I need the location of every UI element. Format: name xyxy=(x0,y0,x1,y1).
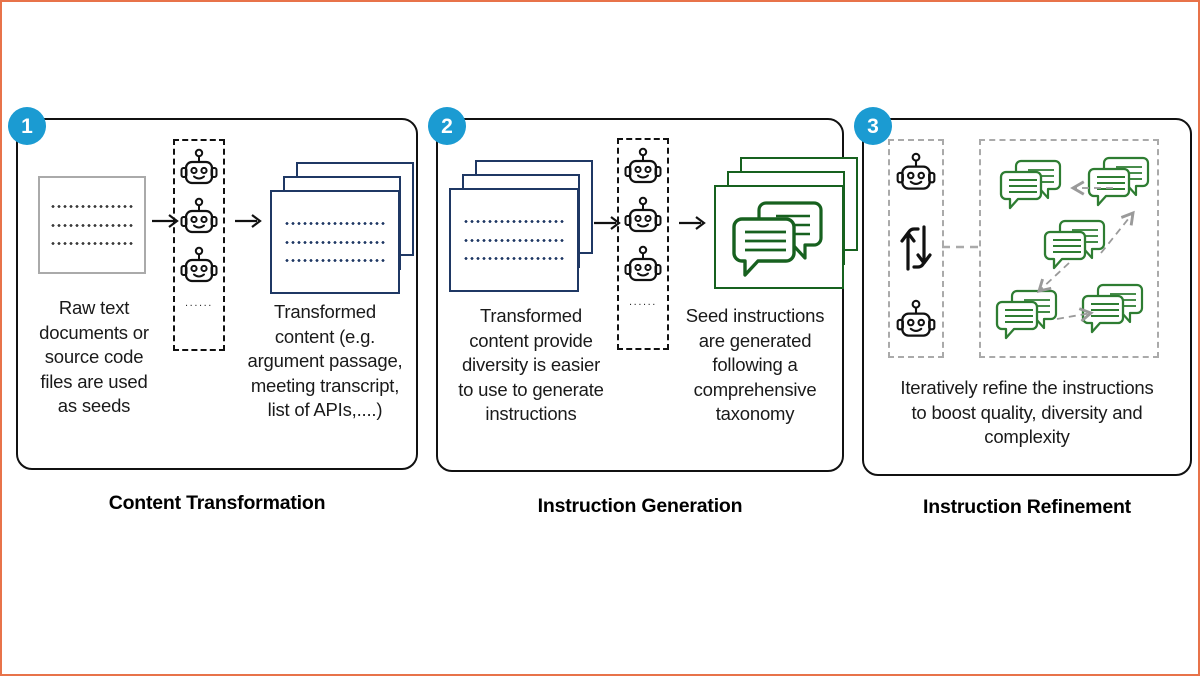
text-line: comprehensive xyxy=(666,378,844,403)
cycle-arrows-icon xyxy=(896,221,936,275)
doc-text-line xyxy=(463,257,565,260)
text-line: content provide xyxy=(440,329,622,354)
doc-text-line xyxy=(463,220,565,223)
text-line: Transformed xyxy=(440,304,622,329)
doc-text-line xyxy=(50,224,134,227)
robot-icon xyxy=(895,153,937,197)
chat-icon xyxy=(997,291,1056,338)
text-line: as seeds xyxy=(20,394,168,419)
text-line: documents or xyxy=(20,321,168,346)
refinement-agent-box xyxy=(888,139,944,358)
panel-3-badge: 3 xyxy=(854,107,892,145)
panel-2-left-text: Transformed content provide diversity is… xyxy=(440,304,622,427)
robot-icon xyxy=(623,246,663,288)
panel-2-right-text: Seed instructions are generated followin… xyxy=(666,304,844,427)
doc-text-line xyxy=(463,239,565,242)
text-line: argument passage, xyxy=(232,349,418,374)
panel-1-caption: Content Transformation xyxy=(16,492,418,515)
text-line: taxonomy xyxy=(666,402,844,427)
text-line: following a xyxy=(666,353,844,378)
figure-canvas: 1 xyxy=(0,0,1200,676)
robot-column-2: ...... xyxy=(617,138,669,350)
panel-2-caption: Instruction Generation xyxy=(436,495,844,518)
robot-column-1: ...... xyxy=(173,139,225,351)
text-line: Seed instructions xyxy=(666,304,844,329)
text-line: Raw text xyxy=(20,296,168,321)
text-line: meeting transcript, xyxy=(232,374,418,399)
instruction-pool-box xyxy=(979,139,1159,358)
panel-3-body-text: Iteratively refine the instructions to b… xyxy=(866,376,1188,450)
text-line: complexity xyxy=(866,425,1188,450)
stack-sheet-front xyxy=(449,188,579,292)
chat-icon xyxy=(1045,221,1104,268)
doc-text-line xyxy=(50,205,134,208)
panel-1-badge: 1 xyxy=(8,107,46,145)
chat-icon xyxy=(1089,158,1148,205)
doc-text-line xyxy=(284,259,386,262)
agent-pool-connector xyxy=(942,244,978,250)
flow-arrow xyxy=(235,213,263,229)
stack-sheet-front xyxy=(714,185,844,289)
text-line: source code xyxy=(20,345,168,370)
seed-instruction-stack-icon xyxy=(714,157,860,293)
raw-document-icon xyxy=(38,176,146,274)
doc-text-line xyxy=(284,222,386,225)
panel-1-right-text: Transformed content (e.g. argument passa… xyxy=(232,300,418,423)
ellipsis-dots: ...... xyxy=(185,298,213,309)
robot-icon xyxy=(895,300,937,344)
refine-arrow xyxy=(1101,213,1133,253)
text-line: diversity is easier xyxy=(440,353,622,378)
text-line: Transformed xyxy=(232,300,418,325)
text-line: are generated xyxy=(666,329,844,354)
text-line: content (e.g. xyxy=(232,325,418,350)
transformed-document-stack-icon xyxy=(270,162,416,298)
robot-icon xyxy=(623,148,663,190)
robot-icon xyxy=(623,197,663,239)
panel-2-badge: 2 xyxy=(428,107,466,145)
text-line: to boost quality, diversity and xyxy=(866,401,1188,426)
panel-3-caption: Instruction Refinement xyxy=(862,496,1192,519)
robot-icon xyxy=(179,198,219,240)
panel-1-left-text: Raw text documents or source code files … xyxy=(20,296,168,419)
text-line: instructions xyxy=(440,402,622,427)
text-line: Iteratively refine the instructions xyxy=(866,376,1188,401)
text-line: list of APIs,....) xyxy=(232,398,418,423)
text-line: files are used xyxy=(20,370,168,395)
doc-text-line xyxy=(284,241,386,244)
text-line: to use to generate xyxy=(440,378,622,403)
chat-icon xyxy=(1083,285,1142,332)
chat-icon xyxy=(1001,161,1060,208)
transformed-document-stack-icon xyxy=(449,160,595,296)
robot-icon xyxy=(179,149,219,191)
stack-sheet-front xyxy=(270,190,400,294)
flow-arrow xyxy=(679,215,707,231)
ellipsis-dots: ...... xyxy=(629,297,657,308)
robot-icon xyxy=(179,247,219,289)
doc-text-line xyxy=(50,242,134,245)
